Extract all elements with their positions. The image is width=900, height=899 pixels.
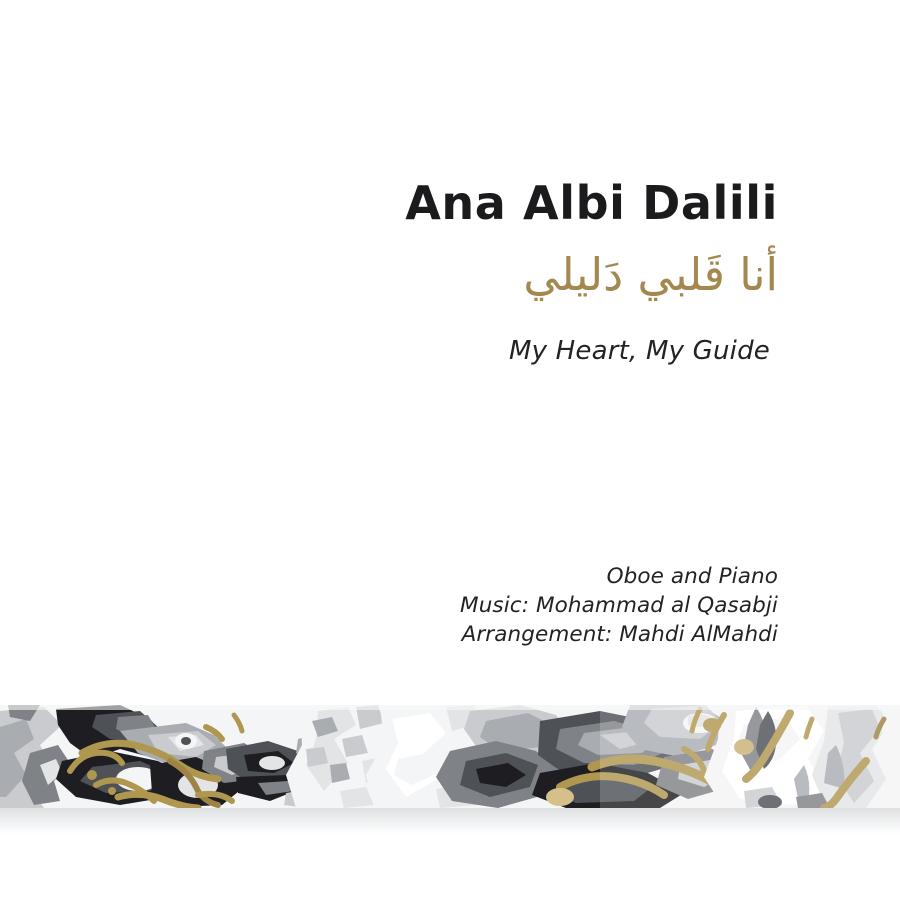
title-block: Ana Albi Dalili أنا قَلبي دَليلي My Hear… [0,176,778,366]
artwork-band-graphic [0,705,900,808]
credit-composer: Music: Mohammad al Qasabji [0,591,778,620]
credit-arranger: Arrangement: Mahdi AlMahdi [0,620,778,649]
arabic-title: أنا قَلبي دَليلي [0,245,778,306]
romanized-title: Ana Albi Dalili [0,176,778,231]
band-bottom-shadow [0,808,900,834]
artwork-band [0,705,900,808]
translated-title: My Heart, My Guide [0,336,770,366]
credits-block: Oboe and Piano Music: Mohammad al Qasabj… [0,562,778,649]
credit-instrumentation: Oboe and Piano [0,562,778,591]
cover-page: Ana Albi Dalili أنا قَلبي دَليلي My Hear… [0,0,900,899]
